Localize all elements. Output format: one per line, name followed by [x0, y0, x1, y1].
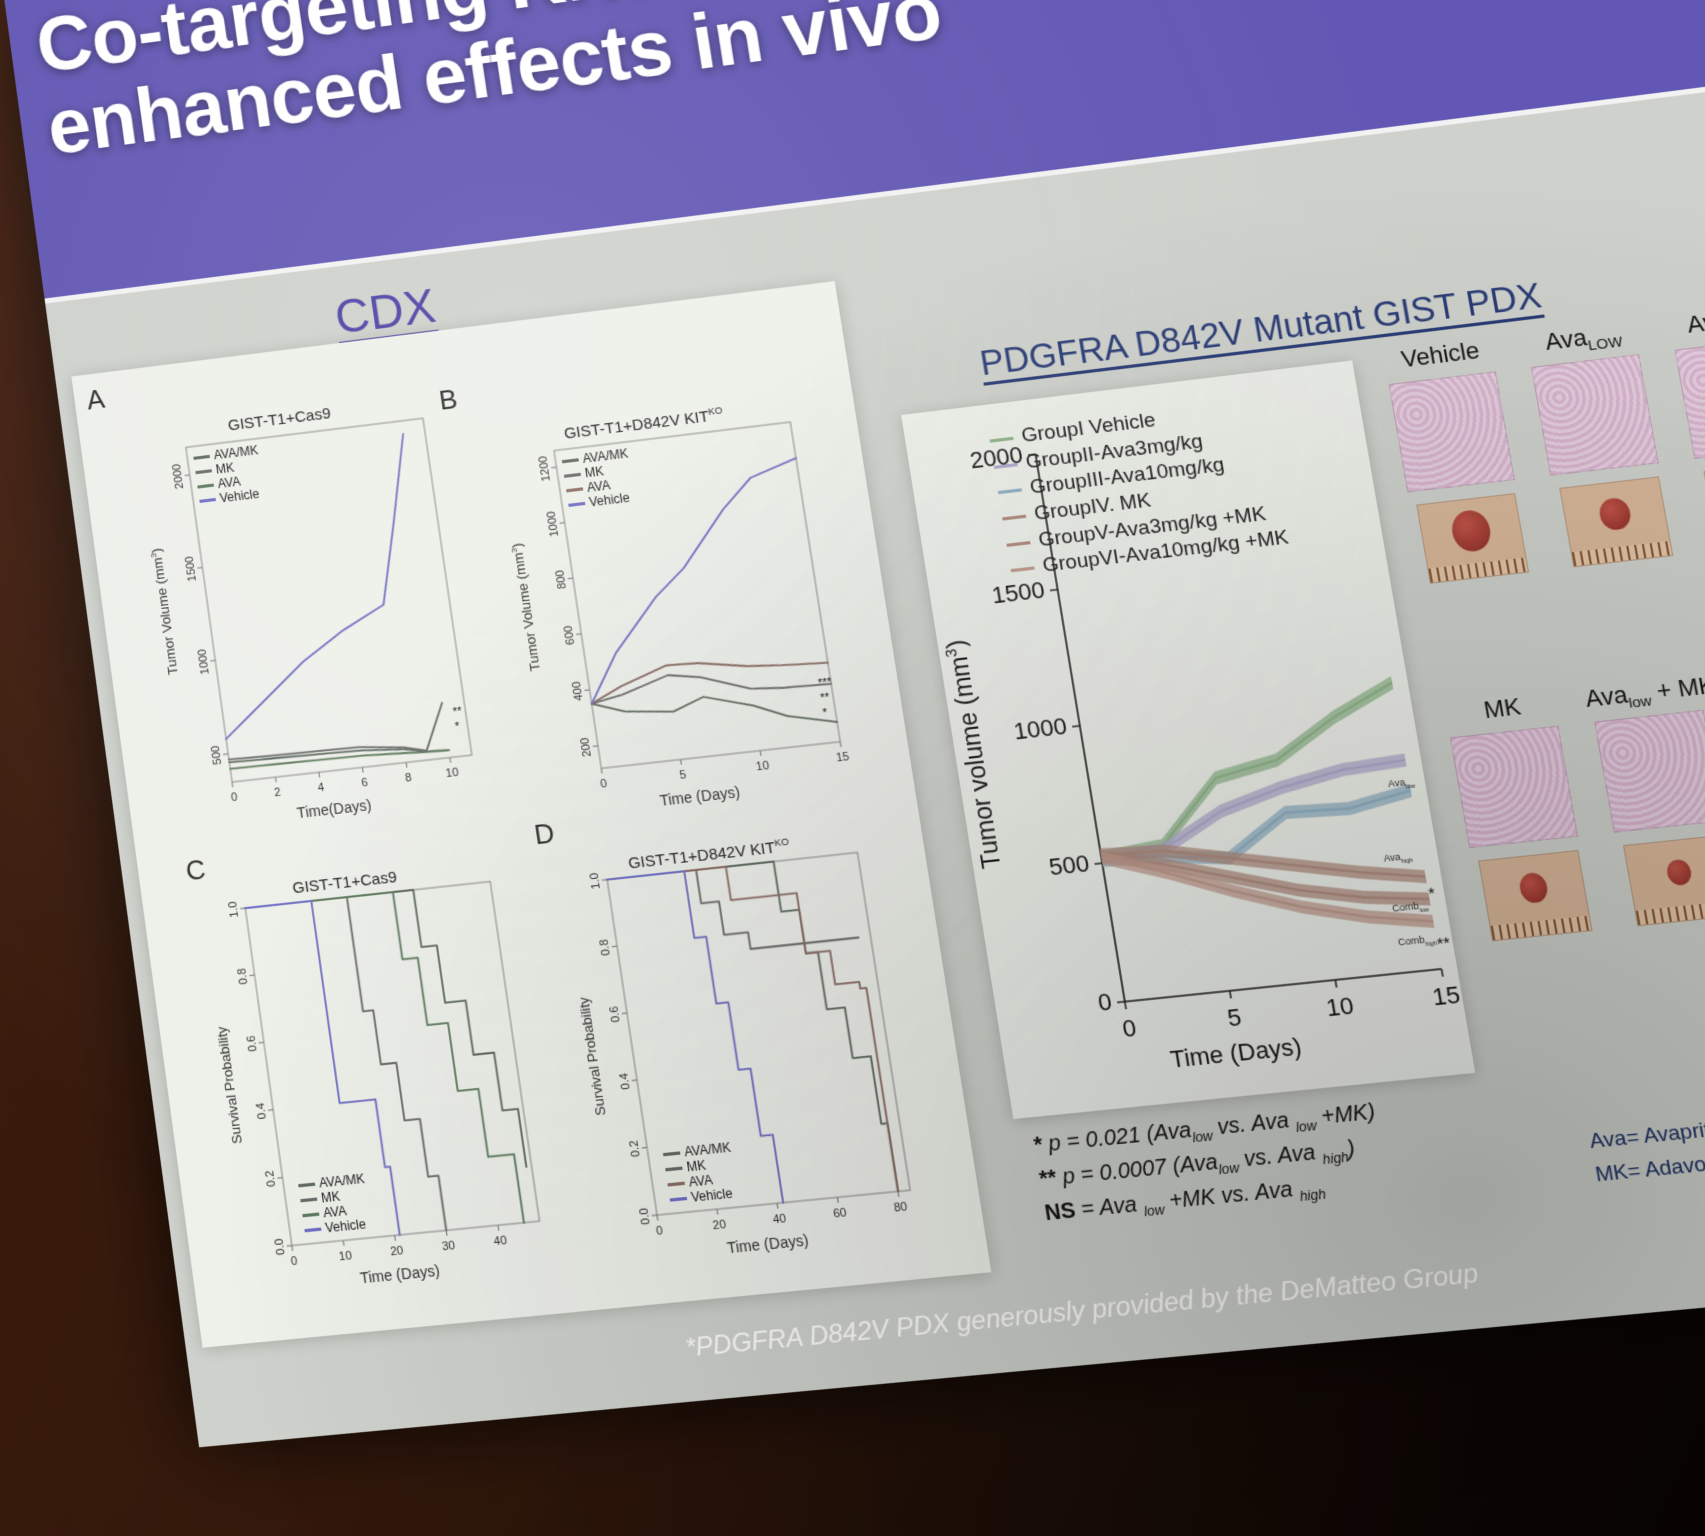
- tumor-photo: [1478, 850, 1592, 941]
- significance-marker: **: [452, 705, 463, 719]
- legend-swatch-icon: [1002, 515, 1026, 521]
- legend-swatch-icon: [665, 1166, 683, 1171]
- svg-text:500: 500: [209, 745, 224, 766]
- svg-text:0.4: 0.4: [254, 1102, 269, 1120]
- mini-b-plot-area: 05101520040060080010001200: [485, 389, 860, 824]
- svg-text:10: 10: [338, 1250, 353, 1264]
- series-line: [607, 854, 858, 963]
- legend-swatch-icon: [566, 487, 583, 492]
- legend-swatch-icon: [994, 463, 1018, 469]
- svg-text:0.8: 0.8: [236, 968, 251, 985]
- tumor-photo: [1559, 476, 1673, 567]
- svg-text:4: 4: [317, 781, 325, 794]
- svg-text:0: 0: [655, 1224, 663, 1238]
- projection-surface: Co-targeting KIT/PDGFRA and WEE1 have en…: [0, 0, 1705, 1490]
- mini-c-legend: AVA/MKMKAVAVehicle: [297, 1171, 372, 1238]
- ruler-scale: [1636, 901, 1705, 926]
- svg-text:1500: 1500: [183, 555, 199, 582]
- legend-swatch-icon: [667, 1182, 685, 1187]
- histology-label: AvaHIGH: [1663, 299, 1705, 344]
- legend-swatch-icon: [663, 1151, 681, 1156]
- legend-swatch-icon: [197, 483, 214, 488]
- tumor-specimen: [1449, 508, 1494, 553]
- svg-text:0: 0: [230, 791, 238, 804]
- svg-text:0: 0: [290, 1255, 298, 1269]
- series-line: [607, 854, 898, 1215]
- svg-text:20: 20: [390, 1244, 405, 1258]
- tumor-specimen: [1518, 871, 1551, 904]
- slide-body: CDX A B C D GIST-T1+Cas90246810500100015…: [45, 81, 1705, 1448]
- tumor-photo: [1416, 493, 1529, 584]
- mini-b-legend: AVA/MKMKAVAVehicle: [561, 446, 636, 513]
- significance-marker: ***: [817, 676, 833, 690]
- histology-label: Vehicle: [1378, 334, 1503, 376]
- legend-swatch-icon: [193, 454, 210, 459]
- svg-text:10: 10: [755, 759, 770, 773]
- mini-d-legend: AVA/MKMKAVAVehicle: [662, 1140, 739, 1208]
- significance-marker: **: [1436, 934, 1452, 954]
- svg-text:8: 8: [404, 772, 412, 785]
- ruler-scale: [1572, 541, 1672, 566]
- ruler-scale: [1491, 916, 1592, 940]
- svg-text:1000: 1000: [196, 648, 212, 675]
- svg-text:1000: 1000: [545, 510, 561, 537]
- svg-text:40: 40: [493, 1234, 508, 1248]
- legend-swatch-icon: [302, 1212, 319, 1217]
- pdx-figure-card: 0500100015002000051015GroupI VehicleGrou…: [901, 360, 1475, 1119]
- pdx-legend: GroupI VehicleGroupII-Ava3mg/kgGroupIII-…: [988, 395, 1291, 584]
- legend-swatch-icon: [199, 498, 216, 503]
- series-line: [607, 854, 898, 1215]
- histology-label: MK: [1439, 688, 1566, 730]
- abbreviation-key: Ava= Avapritinib (KIT/PDGFRAi)MK= Adavos…: [1587, 1096, 1705, 1194]
- histology-image: [1388, 371, 1514, 492]
- svg-text:0.0: 0.0: [638, 1207, 653, 1225]
- svg-text:2000: 2000: [171, 463, 187, 490]
- svg-text:0.6: 0.6: [608, 1005, 623, 1023]
- mini-c-plot-area: 0102030400.00.20.40.60.81.0: [188, 853, 559, 1301]
- histology-image: [1531, 354, 1659, 476]
- svg-text:20: 20: [712, 1218, 727, 1232]
- svg-text:200: 200: [579, 737, 594, 758]
- legend-swatch-icon: [562, 458, 579, 463]
- svg-text:60: 60: [832, 1206, 847, 1220]
- curve-label: Avahigh: [1383, 850, 1414, 867]
- mini-d-plot-area: 0204060800.00.20.40.60.81.0: [548, 823, 931, 1270]
- svg-text:0.8: 0.8: [598, 939, 613, 957]
- significance-marker: **: [819, 691, 830, 705]
- svg-text:400: 400: [570, 681, 585, 702]
- series-line: [245, 882, 526, 1191]
- tumor-specimen: [1597, 497, 1632, 532]
- svg-text:5: 5: [679, 769, 687, 782]
- svg-text:0.0: 0.0: [273, 1238, 288, 1256]
- svg-text:6: 6: [361, 776, 369, 789]
- legend-swatch-icon: [990, 437, 1014, 443]
- svg-text:0.4: 0.4: [618, 1072, 633, 1090]
- chart-panel-a: GIST-T1+Cas90246810500100015002000AVA/MK…: [125, 386, 491, 837]
- presentation-slide: Co-targeting KIT/PDGFRA and WEE1 have en…: [4, 0, 1705, 1447]
- legend-swatch-icon: [564, 472, 581, 477]
- svg-text:0: 0: [600, 778, 608, 791]
- photo-stage: Co-targeting KIT/PDGFRA and WEE1 have en…: [0, 0, 1705, 1536]
- legend-swatch-icon: [998, 489, 1022, 495]
- svg-text:1.0: 1.0: [227, 901, 242, 918]
- curve-label: Avalow: [1387, 776, 1416, 793]
- chart-panel-d: GIST-T1+D842V KITKO0204060800.00.20.40.6…: [548, 823, 931, 1270]
- svg-text:15: 15: [835, 751, 850, 765]
- svg-text:800: 800: [554, 569, 569, 590]
- series-line: [225, 703, 449, 773]
- svg-text:0.2: 0.2: [264, 1170, 279, 1188]
- tumor-specimen: [1665, 858, 1693, 886]
- panel-letter-c: C: [184, 853, 208, 888]
- histology-image: [1450, 726, 1578, 849]
- series-line: [587, 647, 830, 704]
- svg-text:80: 80: [893, 1201, 908, 1215]
- tumor-photo: [1623, 834, 1705, 926]
- chart-panel-c: GIST-T1+Cas90102030400.00.20.40.60.81.0A…: [188, 853, 559, 1301]
- panel-letter-a: A: [85, 383, 107, 417]
- legend-swatch-icon: [304, 1228, 321, 1233]
- svg-text:30: 30: [441, 1239, 456, 1253]
- svg-text:2: 2: [274, 786, 282, 799]
- panel-letter-b: B: [437, 383, 460, 417]
- ruler-scale: [1428, 558, 1527, 583]
- svg-text:1.0: 1.0: [588, 872, 603, 890]
- chart-panel-b: GIST-T1+D842V KITKO051015200400600800100…: [485, 389, 860, 824]
- legend-swatch-icon: [1006, 541, 1030, 547]
- cdx-figure-card: A B C D GIST-T1+Cas902468105001000150020…: [71, 281, 991, 1348]
- pdx-chart: 0500100015002000051015GroupI VehicleGrou…: [901, 360, 1475, 1119]
- histology-image: [1594, 710, 1705, 833]
- svg-text:600: 600: [562, 625, 577, 646]
- pdx-pvalue-footnotes: * p = 0.021 (Avalow vs. Ava low +MK)** p…: [1032, 1097, 1390, 1233]
- svg-text:0.2: 0.2: [628, 1140, 643, 1158]
- histology-image: [1674, 337, 1705, 459]
- legend-swatch-icon: [195, 469, 212, 474]
- mini-a-legend: AVA/MKMKAVAVehicle: [192, 443, 265, 509]
- mini-a-plot-area: 0246810500100015002000: [125, 386, 491, 837]
- legend-swatch-icon: [670, 1197, 688, 1202]
- svg-text:0.6: 0.6: [245, 1035, 260, 1052]
- legend-swatch-icon: [298, 1182, 315, 1187]
- histology-label: Avalow + MK: [1583, 672, 1705, 716]
- legend-swatch-icon: [568, 502, 585, 507]
- svg-text:1200: 1200: [537, 455, 553, 482]
- series-line: [592, 677, 837, 749]
- svg-text:10: 10: [445, 766, 460, 780]
- legend-swatch-icon: [1011, 567, 1035, 573]
- legend-swatch-icon: [300, 1197, 317, 1202]
- svg-text:40: 40: [772, 1212, 787, 1226]
